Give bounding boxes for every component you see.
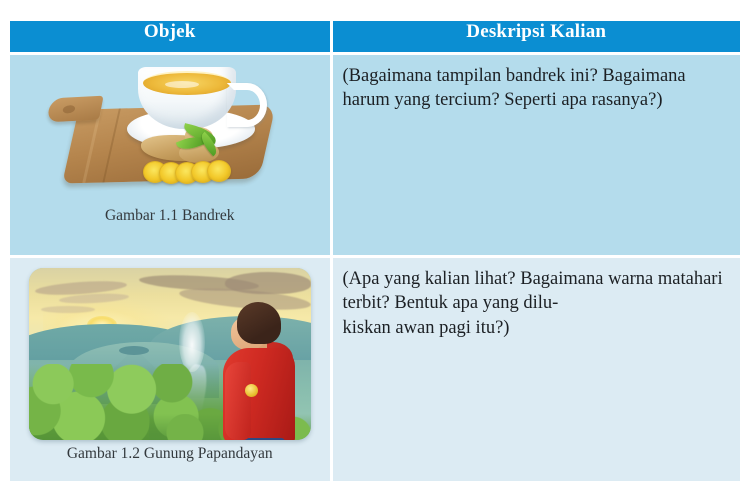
tea-highlight [165, 81, 199, 88]
tea-liquid-shape [143, 71, 231, 95]
teacup-handle-shape [227, 83, 267, 127]
column-header-deskripsi: Deskripsi Kalian [331, 21, 740, 54]
bandrek-illustration [41, 61, 299, 201]
observation-table: Objek Deskripsi Kalian [10, 21, 740, 481]
table-row: Gambar 1.1 Bandrek (Bagaimana tampilan b… [10, 54, 740, 257]
board-handle-shape [46, 96, 103, 123]
description-text-gunung: (Apa yang kalian lihat? Bagaimana warna … [333, 258, 741, 340]
page-root: Objek Deskripsi Kalian [0, 0, 750, 500]
cloud-shape [41, 306, 95, 313]
description-cell-bandrek: (Bagaimana tampilan bandrek ini? Bagaima… [331, 54, 740, 257]
object-cell-gunung: Gambar 1.2 Gunung Papandayan [10, 257, 331, 482]
steam-plume-shape [179, 312, 205, 372]
jacket-sleeve-shape [225, 362, 251, 440]
jacket-badge-icon [245, 384, 258, 397]
figure-caption-gunung: Gambar 1.2 Gunung Papandayan [10, 445, 330, 463]
board-handle-hole [62, 105, 76, 114]
description-cell-gunung: (Apa yang kalian lihat? Bagaimana warna … [331, 257, 740, 482]
object-cell-inner: Gambar 1.2 Gunung Papandayan [10, 258, 330, 481]
object-cell-bandrek: Gambar 1.1 Bandrek [10, 54, 331, 257]
table-header: Objek Deskripsi Kalian [10, 21, 740, 54]
description-text-bandrek: (Bagaimana tampilan bandrek ini? Bagaima… [333, 55, 741, 113]
table-body: Gambar 1.1 Bandrek (Bagaimana tampilan b… [10, 54, 740, 482]
hair-shape [237, 302, 281, 344]
object-cell-inner: Gambar 1.1 Bandrek [10, 55, 330, 255]
person-figure [211, 302, 305, 440]
volcano-crater-shape [119, 346, 149, 355]
column-header-objek: Objek [10, 21, 331, 54]
table-row: Gambar 1.2 Gunung Papandayan (Apa yang k… [10, 257, 740, 482]
table-header-row: Objek Deskripsi Kalian [10, 21, 740, 54]
ginger-slice-shape [207, 160, 231, 182]
cloud-shape [225, 272, 311, 294]
mountain-illustration [29, 268, 311, 440]
